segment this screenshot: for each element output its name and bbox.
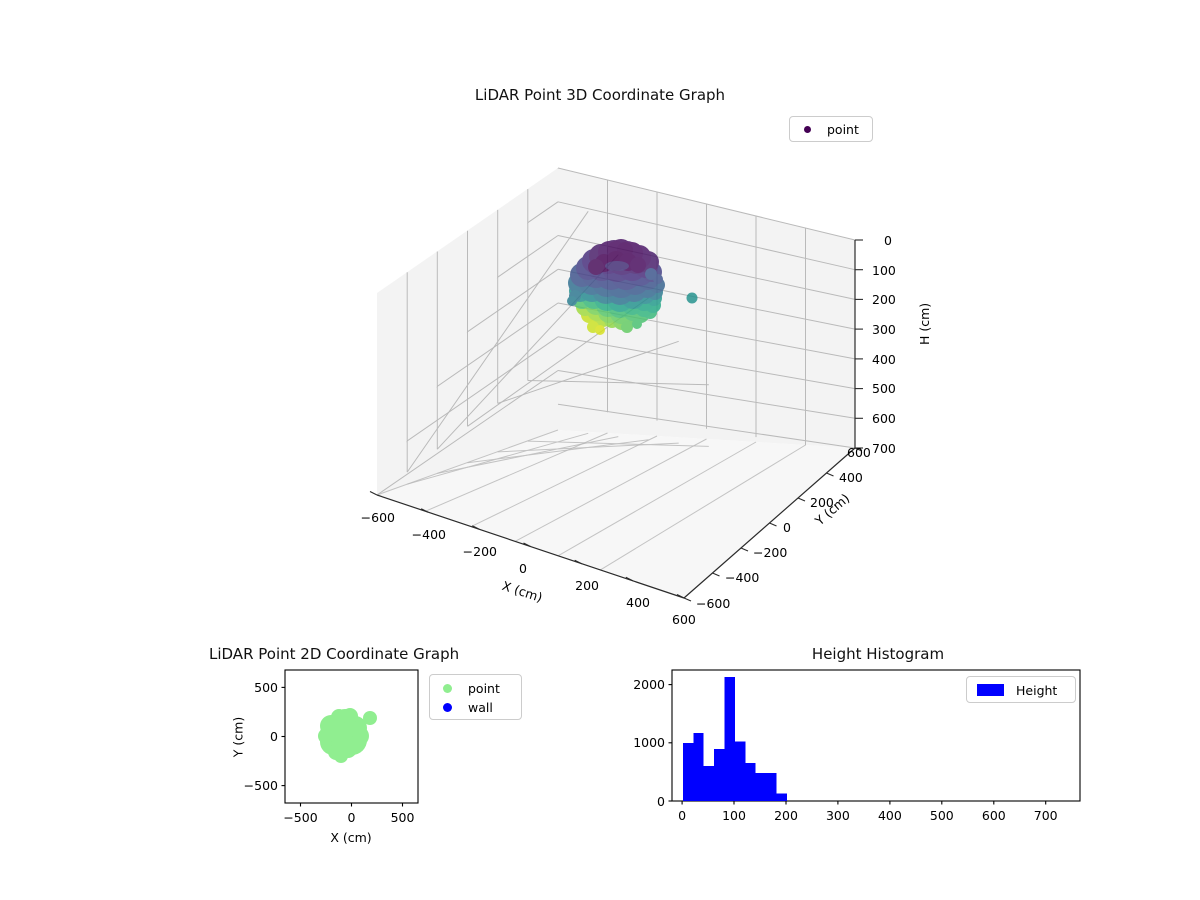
plot3d-ytick-6: 600 <box>847 445 871 460</box>
plot2d-yaxis-label: Y (cm) <box>231 717 246 757</box>
histogram-xtick-2: 200 <box>774 808 798 823</box>
plot3d-htick-7: 700 <box>872 441 896 456</box>
plot3d-htick-4: 400 <box>872 352 896 367</box>
bar <box>777 793 787 801</box>
legend-label: point <box>468 681 500 696</box>
plot3d-htick-1: 100 <box>872 263 896 278</box>
matplotlib-figure: LiDAR Point 3D Coordinate Graph point <box>0 0 1200 900</box>
plot3d-ytick-2: −200 <box>753 545 787 560</box>
plot2d-ytick-1: 0 <box>270 729 278 744</box>
histogram-ytick-1: 1000 <box>633 735 665 750</box>
point-marker-icon <box>443 684 452 693</box>
bar <box>683 743 693 801</box>
histogram-legend[interactable]: Height <box>966 676 1076 703</box>
plot2d-ytick-0: 500 <box>254 680 278 695</box>
legend-item-height[interactable]: Height <box>967 680 1075 700</box>
histogram-xtick-1: 100 <box>722 808 746 823</box>
plot3d-htick-3: 300 <box>872 322 896 337</box>
plot2d-canvas <box>0 630 560 900</box>
histogram-panel: Height Histogram <box>600 630 1200 900</box>
plot2d-panel: LiDAR Point 2D Coordinate Graph <box>0 630 560 900</box>
plot3d-ytick-3: 0 <box>783 520 791 535</box>
plot3d-ytick-0: −600 <box>696 596 730 611</box>
bar <box>766 773 776 801</box>
plot3d-panel: LiDAR Point 3D Coordinate Graph point <box>0 0 1200 630</box>
plot2d-xaxis-label: X (cm) <box>330 830 371 845</box>
bar <box>714 749 724 801</box>
bar <box>704 766 714 801</box>
histogram-xtick-3: 300 <box>826 808 850 823</box>
legend-item-wall[interactable]: wall <box>430 697 521 717</box>
plot2d-ytick-2: −500 <box>244 778 278 793</box>
bar <box>725 677 735 801</box>
histogram-canvas <box>600 630 1200 900</box>
histogram-ytick-2: 2000 <box>633 677 665 692</box>
wall-marker-icon <box>443 703 452 712</box>
legend-label: wall <box>468 700 493 715</box>
plot2d-legend[interactable]: point wall <box>429 674 522 720</box>
bar <box>735 742 745 801</box>
plot3d-xtick-4: 200 <box>575 578 599 593</box>
histogram-xtick-0: 0 <box>678 808 686 823</box>
plot3d-xtick-3: 0 <box>519 561 527 576</box>
histogram-xtick-4: 400 <box>878 808 902 823</box>
plot3d-haxis-label: H (cm) <box>917 303 932 345</box>
bar <box>756 773 766 801</box>
histogram-ytick-0: 0 <box>657 794 665 809</box>
plot2d-xtick-0: −500 <box>283 810 317 825</box>
bar <box>693 733 703 801</box>
legend-item-point[interactable]: point <box>430 678 521 698</box>
plot3d-htick-6: 600 <box>872 411 896 426</box>
plot3d-ytick-1: −400 <box>725 570 759 585</box>
plot3d-ytick-5: 400 <box>839 470 863 485</box>
plot3d-xtick-1: −400 <box>412 527 446 542</box>
height-swatch-icon <box>977 684 1004 696</box>
plot3d-xtick-5: 400 <box>626 595 650 610</box>
histogram-xtick-6: 600 <box>982 808 1006 823</box>
plot2d-satellite-point <box>363 711 377 725</box>
plot3d-xtick-6: 600 <box>672 612 696 627</box>
outlier-point <box>687 293 698 304</box>
legend-label: Height <box>1016 683 1057 698</box>
plot3d-xtick-0: −600 <box>361 510 395 525</box>
plot2d-xtick-1: 0 <box>348 810 356 825</box>
plot2d-xtick-2: 500 <box>391 810 415 825</box>
plot3d-canvas <box>0 0 1200 630</box>
bar <box>745 763 755 801</box>
histogram-xtick-5: 500 <box>930 808 954 823</box>
plot3d-htick-5: 500 <box>872 381 896 396</box>
histogram-xtick-7: 700 <box>1034 808 1058 823</box>
plot3d-xtick-2: −200 <box>463 544 497 559</box>
plot3d-htick-2: 200 <box>872 292 896 307</box>
plot3d-htick-0: 0 <box>884 233 892 248</box>
